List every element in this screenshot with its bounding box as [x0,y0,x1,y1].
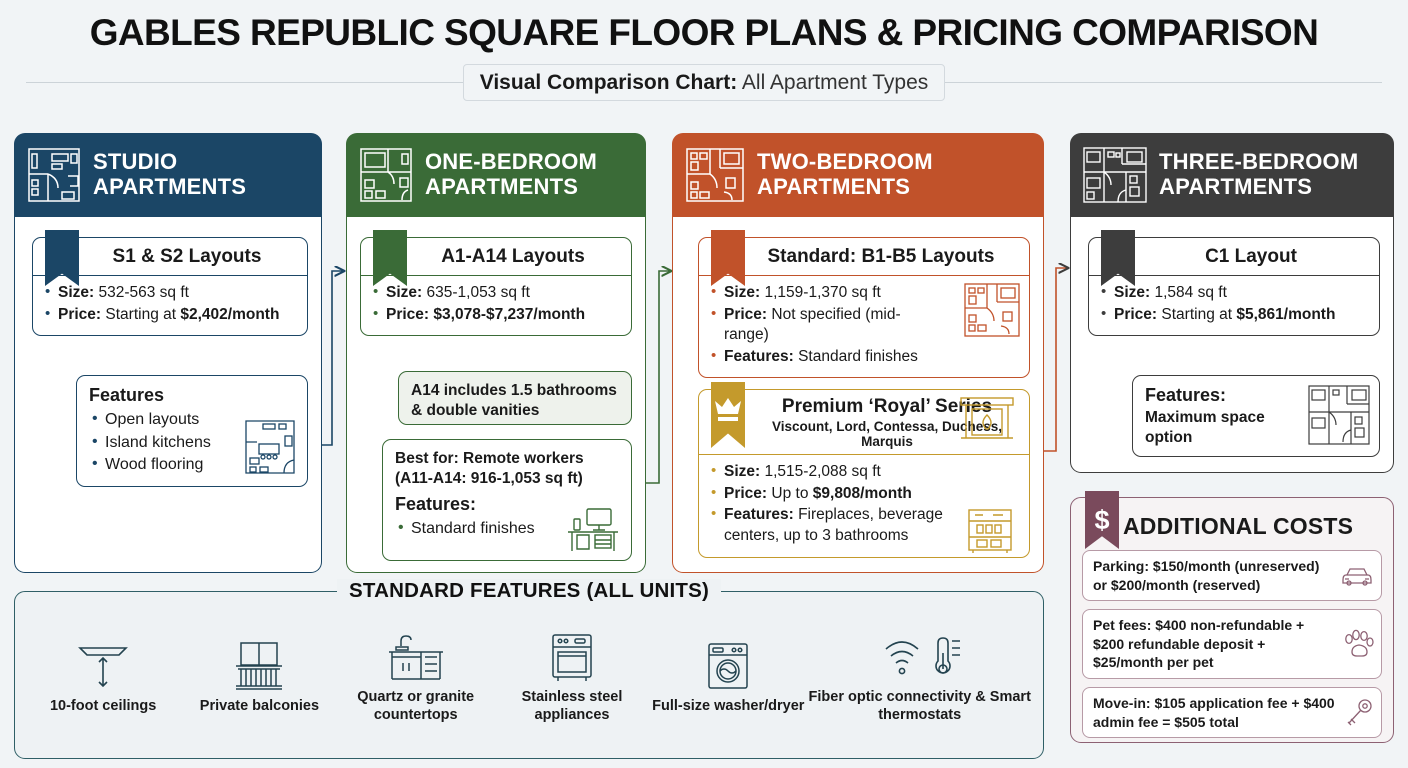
bullet-text: Starting at [1157,306,1236,323]
two-standard-body: Size: 1,159-1,370 sq ft Price: Not speci… [699,276,1029,377]
column-three-bedroom[interactable]: THREE-BEDROOM APARTMENTS C1 Layout Size:… [1070,133,1394,473]
additional-costs-header: $ ADDITIONAL COSTS [1071,498,1393,550]
one-card-body: Size: 635-1,053 sq ft Price: $3,078-$7,2… [361,276,631,335]
bullet-label: Size: [1114,284,1150,301]
cost-item-parking[interactable]: Parking: $150/month (unreserved) or $200… [1082,550,1382,601]
bullet-text: 1,584 sq ft [1150,284,1227,301]
studio-bullets: Size: 532-563 sq ft Price: Starting at $… [45,283,295,325]
three-title: THREE-BEDROOM APARTMENTS [1159,150,1382,199]
three-bedroom-plan-thumb-icon [1307,384,1371,446]
subtitle-bold: Visual Comparison Chart: [480,71,738,94]
ceiling-height-icon [25,640,181,692]
one-title: ONE-BEDROOM APARTMENTS [425,150,634,199]
bullet-text: Standard finishes [794,348,918,365]
bullet-label: Size: [386,284,422,301]
one-header: ONE-BEDROOM APARTMENTS [346,133,646,217]
bullet-text: 1,515-2,088 sq ft [760,463,881,480]
bullet-bold-tail: $5,861/month [1236,306,1335,323]
two-premium-bullets: Size: 1,515-2,088 sq ft Price: Up to $9,… [711,462,949,546]
bullet-label: Price: [724,485,767,502]
bullet-text: 1,159-1,370 sq ft [760,284,881,301]
column-one-bedroom[interactable]: ONE-BEDROOM APARTMENTS A1-A14 Layouts Si… [346,133,646,573]
list-item: Price: Up to $9,808/month [711,484,949,505]
feature-countertops-label: Quartz or granite countertops [338,689,494,724]
two-standard-card[interactable]: Standard: B1-B5 Layouts Size: 1,159-1,37… [698,237,1030,378]
list-item: Features: Standard finishes [711,347,945,368]
cost-pet-text: Pet fees: $400 non-refundable + $200 ref… [1093,617,1304,670]
one-best-box[interactable]: Best for: Remote workers (A11-A14: 916-1… [382,439,632,561]
one-note-text: A14 includes 1.5 bathrooms & double vani… [411,381,619,421]
cost-item-move-in[interactable]: Move-in: $105 application fee + $400 adm… [1082,687,1382,738]
bullet-label: Features: [724,348,794,365]
feature-appliances-label: Stainless steel appliances [494,689,650,724]
bullet-bold-tail: $3,078-$7,237/month [433,306,585,323]
one-bedroom-floorplan-icon [358,146,414,204]
subtitle-badge: Visual Comparison Chart: All Apartment T… [463,64,946,101]
studio-features-heading: Features [89,385,295,406]
studio-floorplan-icon [26,146,82,204]
desk-computer-icon [565,506,621,554]
three-header: THREE-BEDROOM APARTMENTS [1070,133,1394,217]
bullet-label: Price: [386,306,429,323]
one-best-line2: (A11-A14: 916-1,053 sq ft) [395,469,619,489]
feature-ceilings[interactable]: 10-foot ceilings [25,640,181,716]
standard-features-panel[interactable]: STANDARD FEATURES (ALL UNITS) 10-foot ce… [14,591,1044,759]
wifi-thermostat-icon [806,631,1033,683]
fireplace-icon [959,396,1015,442]
bullet-label: Price: [58,306,101,323]
list-item: Size: 1,159-1,370 sq ft [711,283,945,304]
three-bedroom-floorplan-icon [1082,146,1148,204]
bullet-text: Up to [767,485,813,502]
list-item: Price: Starting at $2,402/month [45,305,295,326]
studio-features-box[interactable]: Features Open layouts Island kitchens Wo… [76,375,308,487]
column-two-bedroom[interactable]: TWO-BEDROOM APARTMENTS Standard: B1-B5 L… [672,133,1044,573]
bullet-label: Size: [58,284,94,301]
one-best-line1: Best for: Remote workers [395,449,619,469]
list-item: Size: 532-563 sq ft [45,283,295,304]
cost-parking-text: Parking: $150/month (unreserved) or $200… [1093,558,1319,593]
feature-appliances[interactable]: Stainless steel appliances [494,631,650,724]
bullet-label: Features: [724,506,794,523]
balcony-icon [181,640,337,692]
two-title: TWO-BEDROOM APARTMENTS [757,150,1032,199]
feature-washer-dryer-label: Full-size washer/dryer [650,698,806,716]
list-item: Features: Fireplaces, beverage centers, … [711,505,949,546]
three-features-text: Maximum space option [1145,408,1295,448]
feature-balconies-label: Private balconies [181,698,337,716]
car-icon [1340,564,1374,588]
one-card-title: A1-A14 Layouts [361,238,631,276]
three-features-box[interactable]: Features: Maximum space option [1132,375,1380,457]
additional-costs-title: ADDITIONAL COSTS [1123,513,1353,540]
bullet-label: Size: [724,463,760,480]
standard-features-row: 10-foot ceilings Private balconies [15,592,1043,758]
bullet-label: Price: [1114,306,1157,323]
countertop-sink-icon [338,631,494,683]
key-icon [1344,698,1374,728]
two-header: TWO-BEDROOM APARTMENTS [672,133,1044,217]
list-item: Size: 1,584 sq ft [1101,283,1367,304]
studio-plan-thumb-icon [243,418,297,476]
one-layout-card[interactable]: A1-A14 Layouts Size: 635-1,053 sq ft Pri… [360,237,632,336]
studio-card-title: S1 & S2 Layouts [33,238,307,276]
list-item: Price: Starting at $5,861/month [1101,305,1367,326]
feature-countertops[interactable]: Quartz or granite countertops [338,631,494,724]
two-standard-title: Standard: B1-B5 Layouts [699,238,1029,276]
two-standard-bullets: Size: 1,159-1,370 sq ft Price: Not speci… [711,283,945,367]
subtitle-light: All Apartment Types [737,71,928,94]
feature-connectivity-label: Fiber optic connectivity & Smart thermos… [806,689,1033,724]
cost-item-pet-fees[interactable]: Pet fees: $400 non-refundable + $200 ref… [1082,609,1382,679]
list-item: Size: 635-1,053 sq ft [373,283,619,304]
bullet-bold-tail: $2,402/month [180,306,279,323]
comparison-board: STUDIO APARTMENTS S1 & S2 Layouts Size: … [14,133,1394,760]
beverage-center-icon [965,507,1015,555]
page-header: GABLES REPUBLIC SQUARE FLOOR PLANS & PRI… [0,0,1408,100]
two-premium-card[interactable]: Premium ‘Royal’ Series Viscount, Lord, C… [698,389,1030,558]
list-item: Price: Not specified (mid-range) [711,305,945,346]
list-item: Price: $3,078-$7,237/month [373,305,619,326]
additional-costs-panel[interactable]: $ ADDITIONAL COSTS Parking: $150/month (… [1070,497,1394,743]
dollar-icon: $ [1085,500,1119,540]
bullet-label: Price: [724,306,767,323]
washer-dryer-icon [650,640,806,692]
svg-text:$: $ [1094,505,1109,535]
studio-layout-card[interactable]: S1 & S2 Layouts Size: 532-563 sq ft Pric… [32,237,308,336]
one-bullets: Size: 635-1,053 sq ft Price: $3,078-$7,2… [373,283,619,325]
list-item: Size: 1,515-2,088 sq ft [711,462,949,483]
two-premium-body: Size: 1,515-2,088 sq ft Price: Up to $9,… [699,455,1029,557]
column-studio[interactable]: STUDIO APARTMENTS S1 & S2 Layouts Size: … [14,133,322,573]
studio-card-body: Size: 532-563 sq ft Price: Starting at $… [33,276,307,335]
bullet-text: Starting at [101,306,180,323]
three-card-body: Size: 1,584 sq ft Price: Starting at $5,… [1089,276,1379,335]
three-bullets: Size: 1,584 sq ft Price: Starting at $5,… [1101,283,1367,325]
paw-icon [1342,629,1374,659]
one-note-box[interactable]: A14 includes 1.5 bathrooms & double vani… [398,371,632,425]
three-card-title: C1 Layout [1089,238,1379,276]
page-title: GABLES REPUBLIC SQUARE FLOOR PLANS & PRI… [20,14,1388,53]
studio-title: STUDIO APARTMENTS [93,150,310,199]
bullet-bold-tail: $9,808/month [813,485,912,502]
three-layout-card[interactable]: C1 Layout Size: 1,584 sq ft Price: Start… [1088,237,1380,336]
standard-features-title: STANDARD FEATURES (ALL UNITS) [337,579,721,603]
bullet-text: 532-563 sq ft [94,284,189,301]
two-bedroom-plan-thumb-icon [963,282,1021,338]
two-bedroom-floorplan-icon [684,146,746,204]
feature-balconies[interactable]: Private balconies [181,640,337,716]
additional-costs-ribbon: $ [1085,491,1119,549]
subtitle-wrap: Visual Comparison Chart: All Apartment T… [20,64,1388,100]
cost-movein-text: Move-in: $105 application fee + $400 adm… [1093,695,1335,730]
feature-ceilings-label: 10-foot ceilings [25,698,181,716]
feature-washer-dryer[interactable]: Full-size washer/dryer [650,640,806,716]
oven-range-icon [494,631,650,683]
feature-connectivity[interactable]: Fiber optic connectivity & Smart thermos… [806,631,1033,724]
studio-header: STUDIO APARTMENTS [14,133,322,217]
bullet-text: 635-1,053 sq ft [422,284,530,301]
bullet-label: Size: [724,284,760,301]
